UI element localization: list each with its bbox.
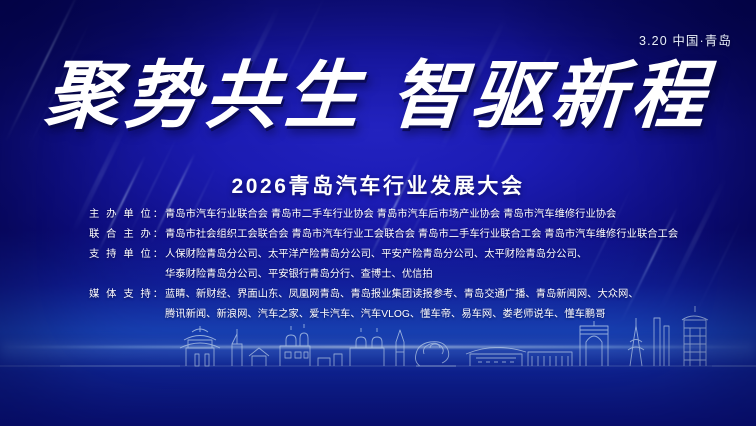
credit-value-supporter-line1: 人保财险青岛分公司、太平洋产险青岛分公司、平安产险青岛分公司、太平财险青岛分公司…: [165, 246, 667, 263]
title-part-two: 智驱新程: [388, 60, 713, 134]
credit-label-organizer: 主 办 单 位：: [89, 206, 165, 223]
credit-row-supporter: 支 持 单 位： 人保财险青岛分公司、太平洋产险青岛分公司、平安产险青岛分公司、…: [89, 246, 667, 263]
conference-poster: 3.20 中国·青岛 聚势共生智驱新程 2026青岛汽车行业发展大会 主 办 单…: [0, 0, 756, 426]
credit-value-organizer: 青岛市汽车行业联合会 青岛市二手车行业协会 青岛市汽车后市场产业协会 青岛市汽车…: [165, 206, 667, 223]
event-subtitle: 2026青岛汽车行业发展大会: [0, 170, 756, 200]
credit-value-media-line1: 蓝睛、新财经、界面山东、凤凰网青岛、青岛报业集团读报参考、青岛交通广播、青岛新闻…: [165, 286, 667, 303]
main-title: 聚势共生智驱新程: [0, 60, 756, 134]
credit-label-coorganizer: 联 合 主 办：: [89, 226, 165, 243]
date-location-label: 3.20 中国·青岛: [639, 30, 732, 49]
title-part-one: 聚势共生: [42, 60, 367, 134]
credits-block: 主 办 单 位： 青岛市汽车行业联合会 青岛市二手车行业协会 青岛市汽车后市场产…: [0, 206, 756, 326]
credit-row-coorganizer: 联 合 主 办： 青岛市社会组织工会联合会 青岛市汽车行业工会联合会 青岛市二手…: [89, 226, 667, 243]
credit-row-media-cont: 腾讯新闻、新浪网、汽车之家、爱卡汽车、汽车VLOG、懂车帝、易车网、娄老师说车、…: [89, 306, 667, 323]
credit-label-supporter: 支 持 单 位：: [89, 246, 165, 263]
credit-row-media: 媒 体 支 持： 蓝睛、新财经、界面山东、凤凰网青岛、青岛报业集团读报参考、青岛…: [89, 286, 667, 303]
credit-value-coorganizer: 青岛市社会组织工会联合会 青岛市汽车行业工会联合会 青岛市二手车行业联合工会 青…: [165, 226, 678, 243]
credit-label-media: 媒 体 支 持：: [89, 286, 165, 303]
credit-row-organizer: 主 办 单 位： 青岛市汽车行业联合会 青岛市二手车行业协会 青岛市汽车后市场产…: [89, 206, 667, 223]
credit-value-media-line2: 腾讯新闻、新浪网、汽车之家、爱卡汽车、汽车VLOG、懂车帝、易车网、娄老师说车、…: [165, 306, 667, 323]
credit-value-supporter-line2: 华泰财险青岛分公司、平安银行青岛分行、查博士、优信拍: [165, 266, 667, 283]
credit-row-supporter-cont: 华泰财险青岛分公司、平安银行青岛分行、查博士、优信拍: [89, 266, 667, 283]
